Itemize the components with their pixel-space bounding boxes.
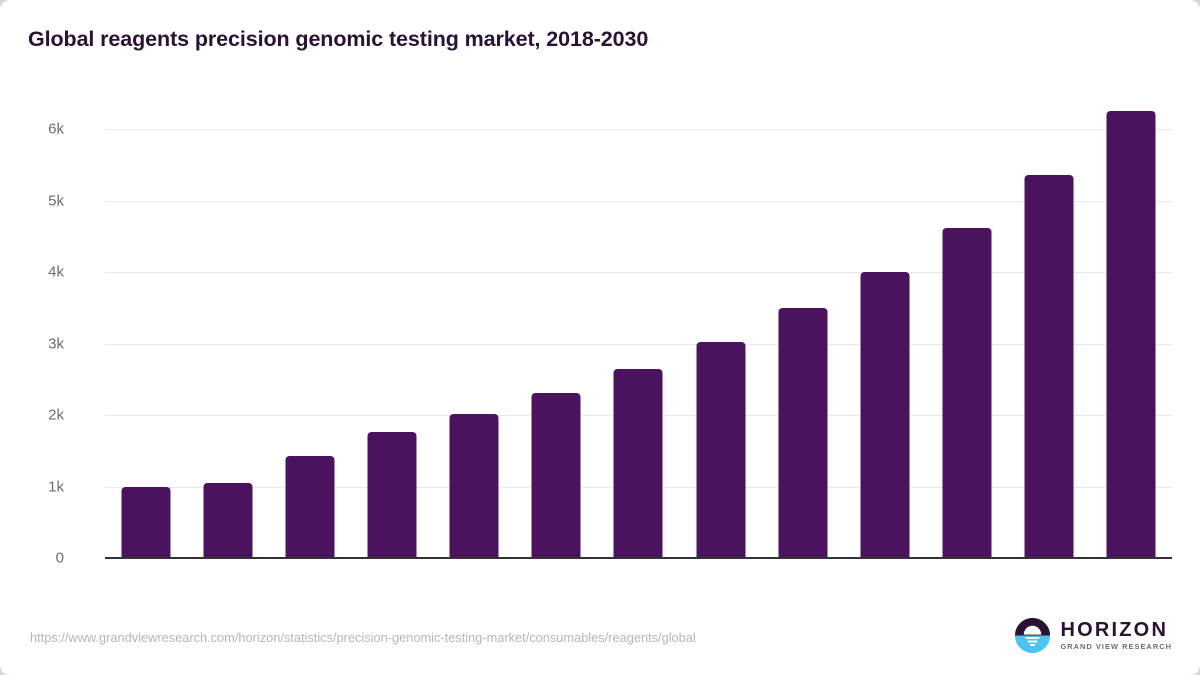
horizon-logo-icon (1014, 617, 1051, 654)
y-axis-tick-label: 2k (0, 407, 64, 424)
bar[interactable] (942, 228, 991, 558)
brand-logo: HORIZON GRAND VIEW RESEARCH (1014, 617, 1172, 654)
bar[interactable] (532, 393, 581, 558)
bar-slot (351, 129, 433, 558)
y-axis-tick-label: 1k (0, 478, 64, 495)
source-url[interactable]: https://www.grandviewresearch.com/horizo… (30, 630, 696, 645)
bar-slot (105, 129, 187, 558)
bar[interactable] (1106, 111, 1155, 558)
bar-slot (433, 129, 515, 558)
y-axis-tick-label: 4k (0, 264, 64, 281)
bar[interactable] (122, 487, 171, 558)
bar-slot (926, 129, 1008, 558)
bar[interactable] (860, 272, 909, 558)
brand-text: HORIZON GRAND VIEW RESEARCH (1060, 620, 1172, 650)
plot-area: 01k2k3k4k5k6k 20182019202020212022202320… (105, 129, 1172, 558)
bar[interactable] (368, 432, 417, 558)
bar-slot (515, 129, 597, 558)
bar[interactable] (614, 369, 663, 558)
chart-screenshot: Global reagents precision genomic testin… (0, 0, 1200, 675)
bar-slot (680, 129, 762, 558)
bar[interactable] (286, 456, 335, 558)
y-axis-tick-label: 6k (0, 121, 64, 138)
bar-slot (1090, 129, 1172, 558)
bar-slot (844, 129, 926, 558)
bar-slot (269, 129, 351, 558)
bar-series (105, 129, 1172, 558)
chart-canvas: Market Size (US$M) 01k2k3k4k5k6k 2018201… (0, 0, 1200, 675)
bar[interactable] (1024, 175, 1073, 558)
bar[interactable] (204, 483, 253, 558)
bar[interactable] (778, 308, 827, 558)
brand-name: HORIZON (1060, 620, 1172, 640)
bar[interactable] (696, 342, 745, 558)
y-axis-tick-label: 0 (0, 550, 64, 567)
y-axis-tick-label: 5k (0, 192, 64, 209)
bar[interactable] (450, 414, 499, 558)
bar-slot (1008, 129, 1090, 558)
x-axis-line (105, 557, 1172, 559)
bar-slot (187, 129, 269, 558)
y-axis-tick-label: 3k (0, 335, 64, 352)
brand-tagline: GRAND VIEW RESEARCH (1060, 643, 1172, 650)
bar-slot (762, 129, 844, 558)
bar-slot (597, 129, 679, 558)
